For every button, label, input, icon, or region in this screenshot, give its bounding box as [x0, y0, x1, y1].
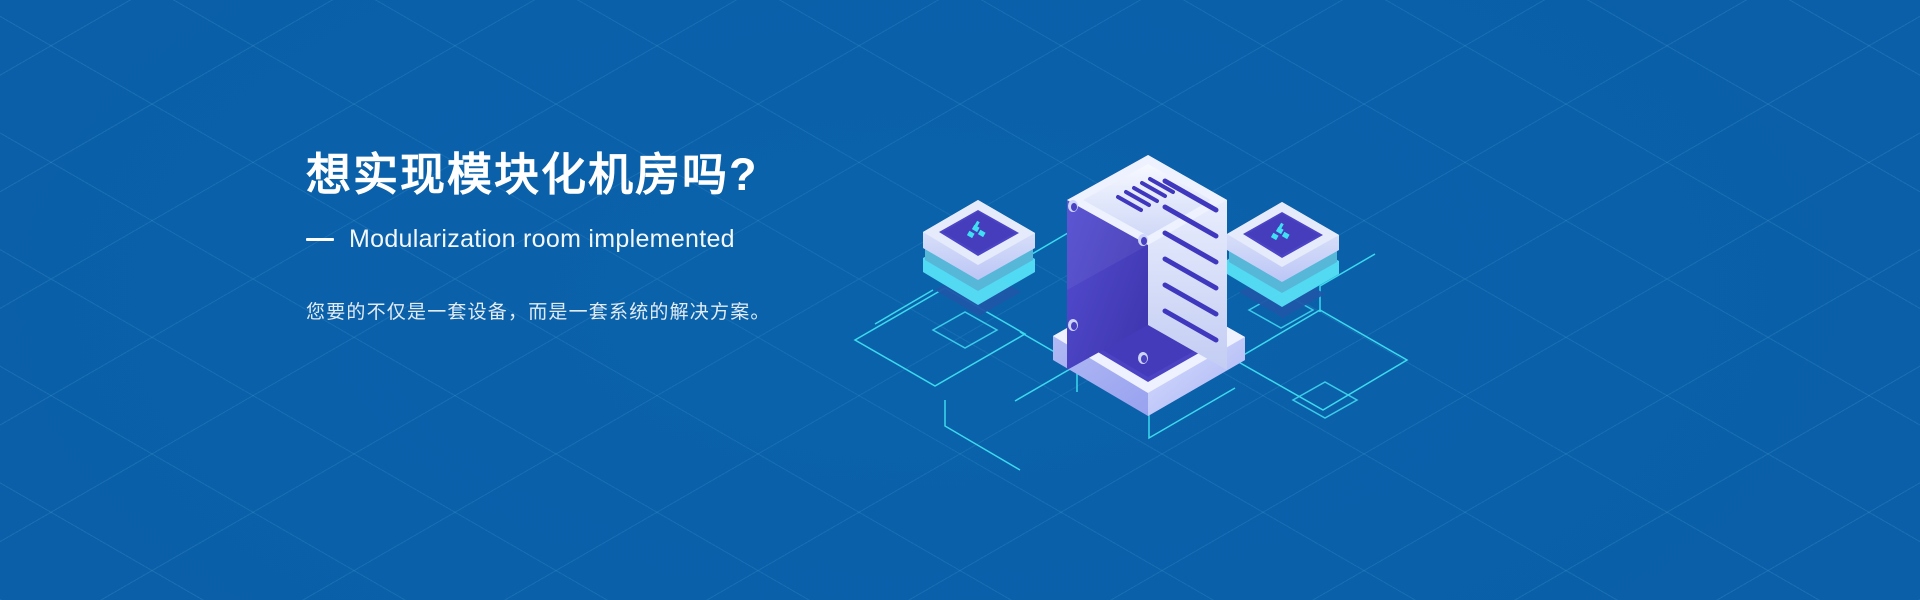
isometric-server-illustration — [815, 40, 1425, 570]
divider-dash-icon — [306, 238, 334, 241]
subheadline: Modularization room implemented — [349, 225, 735, 254]
hero-banner: 想实现模块化机房吗? Modularization room implement… — [0, 0, 1920, 600]
